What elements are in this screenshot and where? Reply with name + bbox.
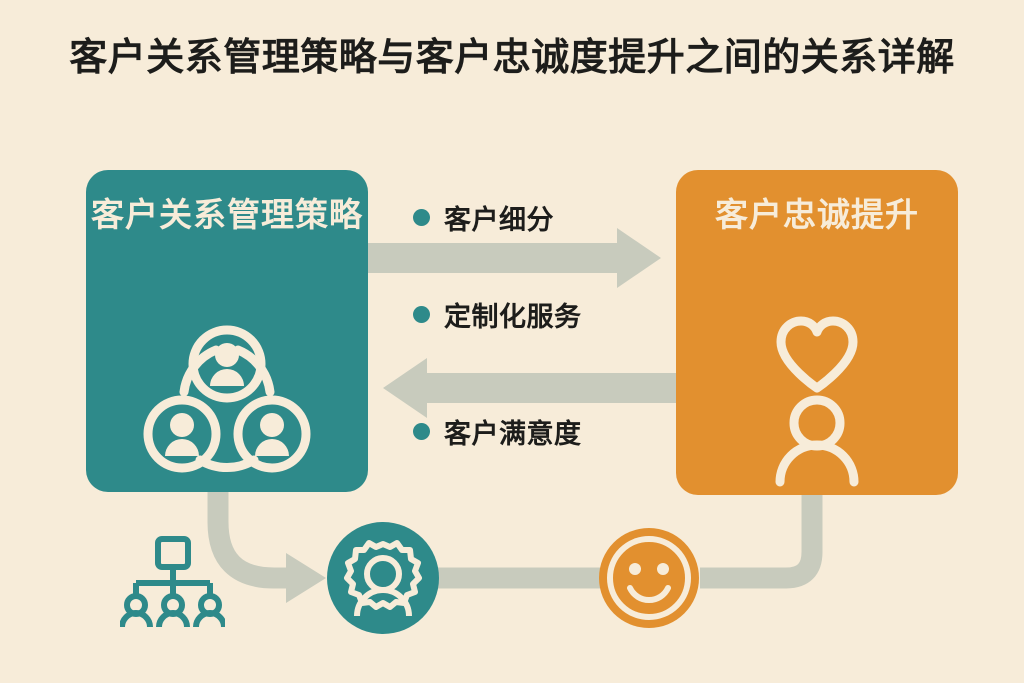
- bullet-dot-icon: [413, 306, 430, 323]
- box-customer-loyalty-label: 客户忠诚提升: [676, 192, 958, 238]
- box-crm-strategy[interactable]: 客户关系管理策略: [86, 170, 368, 492]
- page-title: 客户关系管理策略与客户忠诚度提升之间的关系详解: [62, 34, 962, 83]
- list-item-segmentation: 客户细分: [413, 198, 554, 237]
- list-item-satisfaction: 客户满意度: [413, 412, 582, 451]
- curved-arrow-to-gear-icon: [218, 492, 326, 603]
- box-crm-strategy-label: 客户关系管理策略: [86, 192, 368, 238]
- gear-person-icon[interactable]: [327, 522, 439, 639]
- bullet-dot-icon: [413, 423, 430, 440]
- box-customer-loyalty[interactable]: 客户忠诚提升: [676, 170, 958, 495]
- smiley-face-icon[interactable]: [597, 522, 701, 639]
- line-smile-to-orange-box: [700, 495, 812, 578]
- loyalty-icon-group: [757, 310, 877, 495]
- people-network-icon: [142, 320, 312, 483]
- org-chart-icon: [120, 535, 225, 632]
- person-icon: [780, 400, 854, 482]
- diagram-canvas: 客户关系管理策略与客户忠诚度提升之间的关系详解 客户关系管理策略: [0, 0, 1024, 683]
- arrow-right-to-left-icon: [383, 358, 676, 418]
- list-item-label: 客户满意度: [444, 412, 582, 451]
- list-item-label: 客户细分: [444, 198, 554, 237]
- arrow-left-to-right-icon: [368, 228, 661, 288]
- bullet-dot-icon: [413, 209, 430, 226]
- list-item-customized-service: 定制化服务: [413, 295, 582, 334]
- heart-icon: [781, 321, 853, 388]
- list-item-label: 定制化服务: [444, 295, 582, 334]
